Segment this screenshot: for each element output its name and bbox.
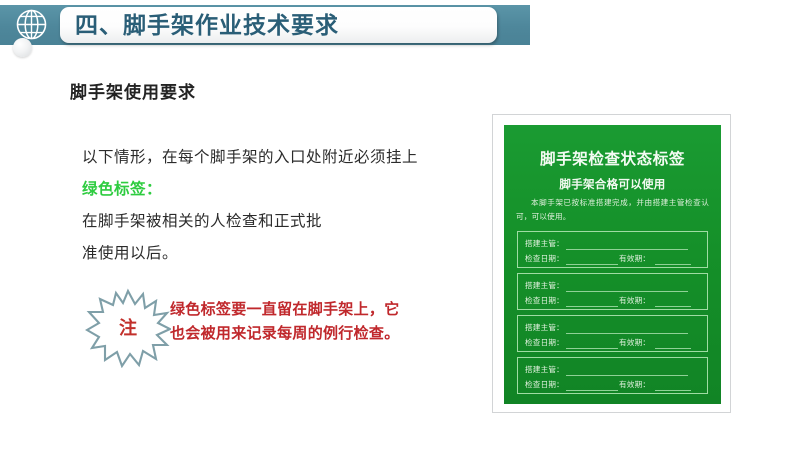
- sign-entry-list: 搭建主管： 检查日期： 有效期： 搭建主管： 检查日期： 有效期： 搭建: [517, 231, 708, 399]
- supervisor-write-line: [566, 333, 688, 334]
- date-label: 检查日期：: [525, 294, 564, 308]
- date-write-line: [566, 306, 618, 307]
- header-accent-dot: [13, 38, 32, 57]
- sign-entry-row: 搭建主管： 检查日期： 有效期：: [517, 357, 708, 394]
- slide-canvas: 四、脚手架作业技术要求 脚手架使用要求 以下情形，在每个脚手架的入口处附近必须挂…: [0, 0, 800, 450]
- supervisor-label: 搭建主管：: [525, 279, 564, 293]
- supervisor-label: 搭建主管：: [525, 363, 564, 377]
- paragraph-line-highlight: 绿色标签：: [82, 174, 472, 206]
- sign-subtitle: 脚手架合格可以使用: [504, 176, 721, 192]
- valid-write-line: [655, 306, 691, 307]
- valid-label: 有效期：: [619, 252, 650, 266]
- paragraph-line: 在脚手架被相关的人检查和正式批: [82, 206, 472, 238]
- valid-write-line: [655, 390, 691, 391]
- note-line: 也会被用来记录每周的例行检查。: [170, 322, 465, 346]
- page-title: 四、脚手架作业技术要求: [75, 10, 485, 40]
- sign-body-text: 本脚手架已按标准搭建完成，并由搭建主管检查认可，可以使用。: [516, 196, 709, 224]
- body-paragraph: 以下情形，在每个脚手架的入口处附近必须挂上 绿色标签： 在脚手架被相关的人检查和…: [82, 142, 472, 270]
- valid-label: 有效期：: [619, 378, 650, 392]
- scaffold-status-sign: 脚手架检查状态标签 脚手架合格可以使用 本脚手架已按标准搭建完成，并由搭建主管检…: [504, 125, 721, 404]
- supervisor-label: 搭建主管：: [525, 321, 564, 335]
- date-write-line: [566, 264, 618, 265]
- note-badge-label: 注: [85, 288, 171, 368]
- valid-label: 有效期：: [619, 336, 650, 350]
- paragraph-line: 以下情形，在每个脚手架的入口处附近必须挂上: [82, 142, 472, 174]
- supervisor-write-line: [566, 375, 688, 376]
- date-label: 检查日期：: [525, 336, 564, 350]
- date-write-line: [566, 348, 618, 349]
- valid-write-line: [655, 348, 691, 349]
- note-text: 绿色标签要一直留在脚手架上，它 也会被用来记录每周的例行检查。: [170, 298, 465, 346]
- sign-card: 脚手架检查状态标签 脚手架合格可以使用 本脚手架已按标准搭建完成，并由搭建主管检…: [492, 114, 731, 413]
- sign-entry-row: 搭建主管： 检查日期： 有效期：: [517, 315, 708, 352]
- date-write-line: [566, 390, 618, 391]
- valid-write-line: [655, 264, 691, 265]
- date-label: 检查日期：: [525, 252, 564, 266]
- note-callout: 注 绿色标签要一直留在脚手架上，它 也会被用来记录每周的例行检查。: [85, 288, 465, 373]
- paragraph-line: 准使用以后。: [82, 238, 472, 270]
- sign-entry-row: 搭建主管： 检查日期： 有效期：: [517, 231, 708, 268]
- date-label: 检查日期：: [525, 378, 564, 392]
- sign-entry-row: 搭建主管： 检查日期： 有效期：: [517, 273, 708, 310]
- supervisor-label: 搭建主管：: [525, 237, 564, 251]
- sign-title: 脚手架检查状态标签: [504, 147, 721, 169]
- section-heading: 脚手架使用要求: [70, 78, 196, 103]
- note-line: 绿色标签要一直留在脚手架上，它: [170, 298, 465, 322]
- valid-label: 有效期：: [619, 294, 650, 308]
- supervisor-write-line: [566, 291, 688, 292]
- globe-icon: [16, 9, 47, 40]
- supervisor-write-line: [566, 249, 688, 250]
